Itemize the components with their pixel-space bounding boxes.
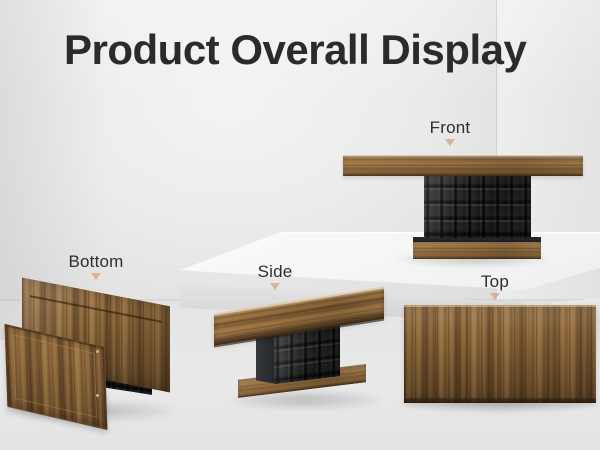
view-side [212, 296, 390, 408]
label-top-text: Top [452, 272, 538, 292]
label-side: Side [232, 262, 318, 290]
top-surface-front-edge [404, 398, 596, 403]
bottom-fastener-2-icon [96, 394, 99, 397]
view-top [402, 303, 598, 411]
label-bottom: Bottom [46, 252, 146, 280]
top-surface-top-edge [404, 305, 596, 307]
label-bottom-text: Bottom [46, 252, 146, 272]
page-title: Product Overall Display [64, 26, 526, 74]
view-bottom [0, 288, 195, 423]
label-front-text: Front [405, 118, 495, 138]
bottom-fastener-icon [96, 350, 99, 353]
view-front [340, 150, 586, 265]
front-pedestal-sheen [424, 175, 531, 238]
front-table-top [343, 156, 583, 176]
down-triangle-marker-bottom-icon [91, 273, 101, 280]
front-plinth [413, 241, 541, 259]
label-front: Front [405, 118, 495, 146]
label-side-text: Side [232, 262, 318, 282]
down-triangle-marker-front-icon [445, 139, 455, 146]
down-triangle-marker-top-icon [490, 293, 500, 300]
label-top: Top [452, 272, 538, 300]
top-surface-sheen [404, 305, 596, 403]
down-triangle-marker-side-icon [270, 283, 280, 290]
product-display-scene: Product Overall Display Front Bottom [0, 0, 600, 450]
front-table-top-highlight [343, 155, 583, 158]
